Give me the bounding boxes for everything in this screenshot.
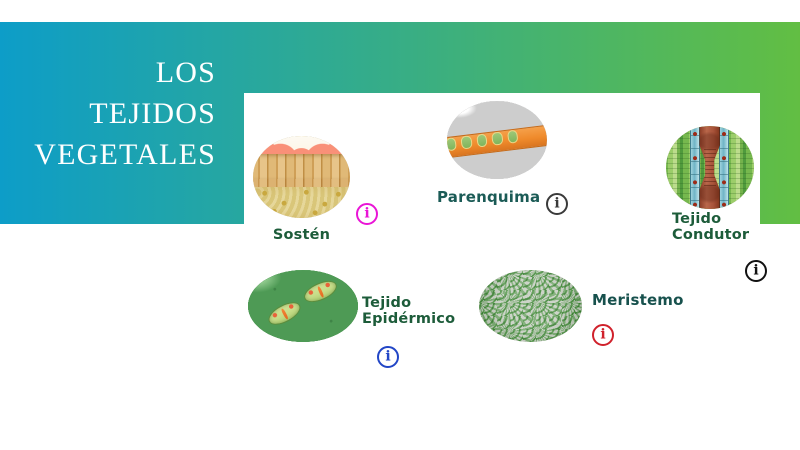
- tejido-epidermico-info-glyph: i: [385, 350, 390, 364]
- title-line-3: VEGETALES: [18, 134, 216, 175]
- sosten-info-icon[interactable]: i: [356, 203, 378, 225]
- slide-canvas: LOS TEJIDOS VEGETALES Sostén i: [0, 0, 800, 450]
- tejido-condutor-info-glyph: i: [753, 264, 758, 278]
- parenquima-label: Parenquima: [437, 188, 540, 206]
- meristemo-label: Meristemo: [592, 291, 684, 309]
- page-title: LOS TEJIDOS VEGETALES: [18, 52, 216, 175]
- support-tissue-micrograph: [253, 136, 350, 218]
- sosten-label: Sostén: [253, 227, 350, 243]
- title-line-1: LOS: [18, 52, 216, 93]
- parenquima-info-icon[interactable]: i: [546, 193, 568, 215]
- sosten-info-glyph: i: [364, 207, 369, 221]
- parenquima-info-glyph: i: [554, 197, 559, 211]
- epidermal-tissue-micrograph: [248, 270, 358, 342]
- title-line-2: TEJIDOS: [18, 93, 216, 134]
- parenchyma-tissue-micrograph: [447, 101, 547, 179]
- meristemo-info-glyph: i: [600, 328, 605, 342]
- sosten-thumbnail[interactable]: [253, 136, 350, 218]
- meristemo-thumbnail[interactable]: [479, 270, 582, 342]
- meristem-tissue-micrograph: [479, 270, 582, 342]
- parenquima-thumbnail[interactable]: [447, 101, 547, 179]
- meristemo-info-icon[interactable]: i: [592, 324, 614, 346]
- tejido-epidermico-label: Tejido Epidérmico: [362, 296, 455, 327]
- tejido-epidermico-info-icon[interactable]: i: [377, 346, 399, 368]
- tejido-condutor-info-icon[interactable]: i: [745, 260, 767, 282]
- tejido-epidermico-thumbnail[interactable]: [248, 270, 358, 342]
- tejido-condutor-label: Tejido Condutor: [672, 212, 749, 243]
- vascular-tissue-micrograph: [666, 126, 754, 209]
- tejido-condutor-thumbnail[interactable]: [666, 126, 754, 209]
